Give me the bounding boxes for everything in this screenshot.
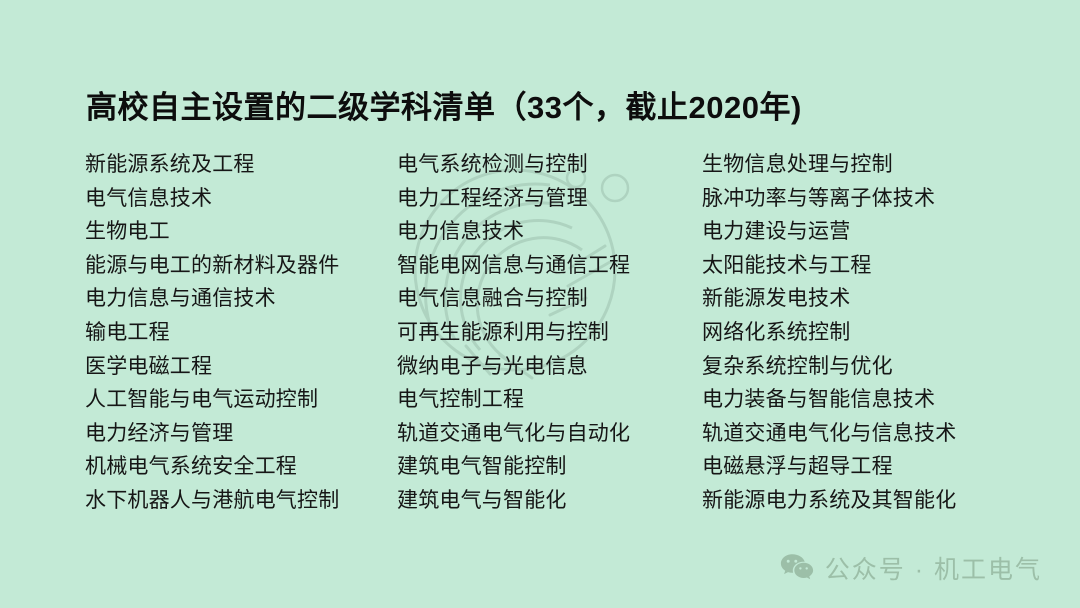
list-item: 电力经济与管理	[85, 417, 395, 451]
footer-branding: 公众号 · 机工电气	[780, 550, 1042, 586]
list-item: 生物信息处理与控制	[702, 148, 1022, 182]
list-item: 电力信息与通信技术	[85, 282, 395, 316]
list-item: 新能源发电技术	[702, 282, 1022, 316]
list-item: 电力建设与运营	[702, 215, 1022, 249]
list-item: 复杂系统控制与优化	[702, 350, 1022, 384]
list-item: 电气控制工程	[397, 383, 697, 417]
list-item: 电气系统检测与控制	[397, 148, 697, 182]
list-item: 人工智能与电气运动控制	[85, 383, 395, 417]
page-title: 高校自主设置的二级学科清单（33个，截止2020年)	[86, 91, 802, 125]
discipline-column-1: 新能源系统及工程 电气信息技术 生物电工 能源与电工的新材料及器件 电力信息与通…	[85, 148, 395, 518]
list-item: 网络化系统控制	[702, 316, 1022, 350]
list-item: 电气信息技术	[85, 182, 395, 216]
list-item: 生物电工	[85, 215, 395, 249]
list-item: 轨道交通电气化与自动化	[397, 417, 697, 451]
list-item: 微纳电子与光电信息	[397, 350, 697, 384]
list-item: 轨道交通电气化与信息技术	[702, 417, 1022, 451]
discipline-list: 新能源系统及工程 电气信息技术 生物电工 能源与电工的新材料及器件 电力信息与通…	[0, 148, 1080, 528]
list-item: 建筑电气与智能化	[397, 484, 697, 518]
list-item: 医学电磁工程	[85, 350, 395, 384]
list-item: 电磁悬浮与超导工程	[702, 450, 1022, 484]
list-item: 机械电气系统安全工程	[85, 450, 395, 484]
list-item: 电气信息融合与控制	[397, 282, 697, 316]
list-item: 能源与电工的新材料及器件	[85, 249, 395, 283]
list-item: 电力信息技术	[397, 215, 697, 249]
slide-canvas: 高校自主设置的二级学科清单（33个，截止2020年) 新能源系统及工程 电气信息…	[0, 0, 1080, 608]
list-item: 新能源电力系统及其智能化	[702, 484, 1022, 518]
list-item: 建筑电气智能控制	[397, 450, 697, 484]
list-item: 太阳能技术与工程	[702, 249, 1022, 283]
list-item: 新能源系统及工程	[85, 148, 395, 182]
list-item: 输电工程	[85, 316, 395, 350]
discipline-column-3: 生物信息处理与控制 脉冲功率与等离子体技术 电力建设与运营 太阳能技术与工程 新…	[702, 148, 1022, 518]
wechat-icon	[780, 553, 814, 583]
footer-label: 公众号 · 机工电气	[825, 550, 1042, 586]
discipline-column-2: 电气系统检测与控制 电力工程经济与管理 电力信息技术 智能电网信息与通信工程 电…	[397, 148, 697, 518]
list-item: 可再生能源利用与控制	[397, 316, 697, 350]
list-item: 智能电网信息与通信工程	[397, 249, 697, 283]
list-item: 电力装备与智能信息技术	[702, 383, 1022, 417]
list-item: 脉冲功率与等离子体技术	[702, 182, 1022, 216]
list-item: 水下机器人与港航电气控制	[85, 484, 395, 518]
list-item: 电力工程经济与管理	[397, 182, 697, 216]
